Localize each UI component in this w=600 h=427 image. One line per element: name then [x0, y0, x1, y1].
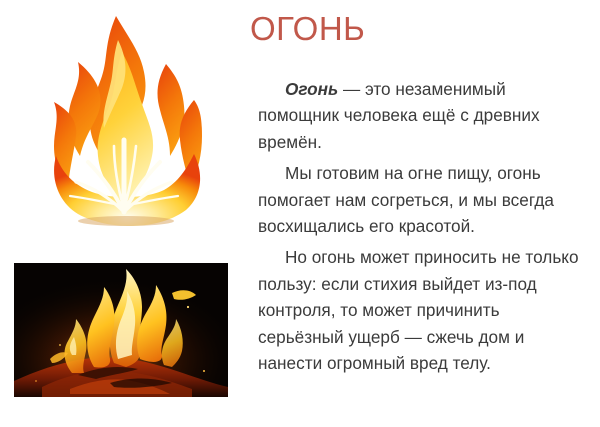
flame-base-shadow	[78, 216, 174, 226]
flame-illustration-svg	[44, 6, 206, 228]
slide-canvas: ОГОНЬ Огонь — это незаменимый помощник ч…	[0, 0, 600, 427]
content-column: ОГОНЬ Огонь — это незаменимый помощник ч…	[250, 0, 590, 427]
paragraph-2-text: Мы готовим на огне пищу, огонь помогает …	[258, 163, 554, 236]
page-title: ОГОНЬ	[250, 10, 365, 48]
photo-spark	[203, 370, 205, 372]
paragraph-3-text: Но огонь может приносить не только польз…	[258, 247, 579, 373]
bonfire-photo	[14, 263, 228, 397]
flame-illustration	[44, 6, 206, 228]
paragraph-1: Огонь — это незаменимый помощник человек…	[258, 76, 588, 155]
paragraph-1-lead-word: Огонь	[285, 79, 338, 99]
photo-spark	[59, 344, 61, 346]
photo-spark	[187, 306, 189, 308]
bonfire-photo-svg	[14, 263, 228, 397]
paragraph-3: Но огонь может приносить не только польз…	[258, 244, 588, 376]
photo-spark	[35, 380, 37, 382]
body-text: Огонь — это незаменимый помощник человек…	[258, 76, 588, 376]
paragraph-2: Мы готовим на огне пищу, огонь помогает …	[258, 160, 588, 239]
